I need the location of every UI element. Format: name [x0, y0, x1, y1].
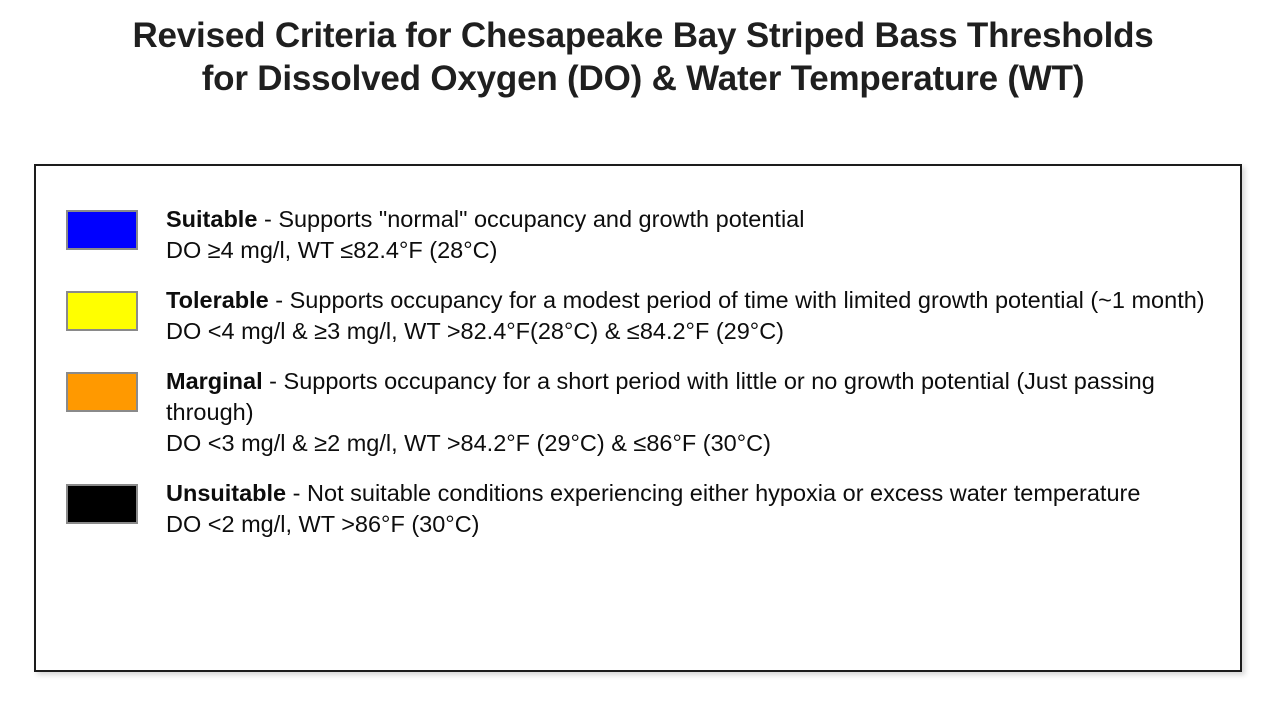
- legend-term-tolerable: Tolerable: [166, 287, 269, 313]
- legend-description-tolerable: Tolerable - Supports occupancy for a mod…: [166, 285, 1224, 316]
- legend-list: Suitable - Supports "normal" occupancy a…: [66, 204, 1226, 540]
- legend-row-unsuitable: Unsuitable - Not suitable conditions exp…: [66, 478, 1226, 540]
- legend-separator-suitable: -: [257, 206, 278, 232]
- legend-desc-tolerable: Supports occupancy for a modest period o…: [290, 287, 1205, 313]
- legend-criteria-unsuitable: DO <2 mg/l, WT >86°F (30°C): [166, 509, 1224, 540]
- color-swatch-marginal: [66, 372, 138, 412]
- legend-separator-tolerable: -: [269, 287, 290, 313]
- legend-description-unsuitable: Unsuitable - Not suitable conditions exp…: [166, 478, 1224, 509]
- legend-desc-marginal: Supports occupancy for a short period wi…: [166, 368, 1155, 425]
- legend-criteria-suitable: DO ≥4 mg/l, WT ≤82.4°F (28°C): [166, 235, 1224, 266]
- legend-desc-suitable: Supports "normal" occupancy and growth p…: [278, 206, 804, 232]
- page-title: Revised Criteria for Chesapeake Bay Stri…: [0, 14, 1286, 100]
- legend-text-suitable: Suitable - Supports "normal" occupancy a…: [166, 204, 1224, 266]
- legend-desc-unsuitable: Not suitable conditions experiencing eit…: [307, 480, 1140, 506]
- legend-row-marginal: Marginal - Supports occupancy for a shor…: [66, 366, 1226, 459]
- page-title-line-2: for Dissolved Oxygen (DO) & Water Temper…: [0, 57, 1286, 100]
- legend-separator-marginal: -: [263, 368, 284, 394]
- legend-term-marginal: Marginal: [166, 368, 263, 394]
- legend-panel: Suitable - Supports "normal" occupancy a…: [34, 164, 1242, 672]
- legend-criteria-tolerable: DO <4 mg/l & ≥3 mg/l, WT >82.4°F(28°C) &…: [166, 316, 1224, 347]
- legend-term-unsuitable: Unsuitable: [166, 480, 286, 506]
- legend-row-suitable: Suitable - Supports "normal" occupancy a…: [66, 204, 1226, 266]
- page-title-line-1: Revised Criteria for Chesapeake Bay Stri…: [0, 14, 1286, 57]
- legend-description-marginal: Marginal - Supports occupancy for a shor…: [166, 366, 1224, 428]
- legend-text-marginal: Marginal - Supports occupancy for a shor…: [166, 366, 1224, 459]
- legend-description-suitable: Suitable - Supports "normal" occupancy a…: [166, 204, 1224, 235]
- legend-text-tolerable: Tolerable - Supports occupancy for a mod…: [166, 285, 1224, 347]
- legend-row-tolerable: Tolerable - Supports occupancy for a mod…: [66, 285, 1226, 347]
- color-swatch-tolerable: [66, 291, 138, 331]
- legend-separator-unsuitable: -: [286, 480, 307, 506]
- color-swatch-suitable: [66, 210, 138, 250]
- legend-criteria-marginal: DO <3 mg/l & ≥2 mg/l, WT >84.2°F (29°C) …: [166, 428, 1224, 459]
- color-swatch-unsuitable: [66, 484, 138, 524]
- slide-canvas: Revised Criteria for Chesapeake Bay Stri…: [0, 0, 1286, 716]
- legend-term-suitable: Suitable: [166, 206, 257, 232]
- legend-text-unsuitable: Unsuitable - Not suitable conditions exp…: [166, 478, 1224, 540]
